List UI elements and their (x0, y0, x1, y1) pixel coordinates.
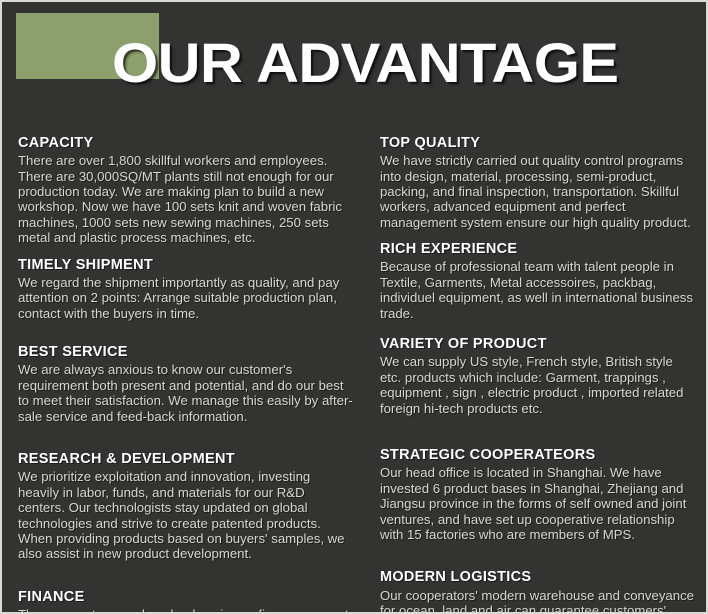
advantage-section: BEST SERVICEWe are always anxious to kno… (18, 343, 354, 424)
section-heading: BEST SERVICE (18, 343, 354, 361)
advantage-section: MODERN LOGISTICSOur cooperators' modern … (380, 568, 694, 614)
section-body: We can supply US style, French style, Br… (380, 354, 694, 416)
section-heading: STRATEGIC COOPERATEORS (380, 446, 694, 464)
advantage-section: CAPACITYThere are over 1,800 skillful wo… (18, 134, 354, 246)
section-body: We have strictly carried out quality con… (380, 153, 694, 230)
section-body: Our head office is located in Shanghai. … (380, 465, 694, 542)
advantage-poster: OUR ADVANTAGE CAPACITYThere are over 1,8… (0, 0, 708, 614)
section-heading: TIMELY SHIPMENT (18, 256, 354, 274)
section-heading: VARIETY OF PRODUCT (380, 335, 694, 353)
advantage-section: TIMELY SHIPMENTWe regard the shipment im… (18, 256, 354, 321)
advantage-section: STRATEGIC COOPERATEORSOur head office is… (380, 446, 694, 542)
right-column: TOP QUALITYWe have strictly carried out … (364, 134, 706, 614)
section-heading: CAPACITY (18, 134, 354, 152)
section-body: There are over 1,800 skillful workers an… (18, 153, 354, 246)
advantage-columns: CAPACITYThere are over 1,800 skillful wo… (2, 134, 706, 612)
section-body: We prioritize exploitation and innovatio… (18, 469, 354, 562)
section-body: Because of professional team with talent… (380, 259, 694, 321)
section-heading: FINANCE (18, 588, 354, 606)
advantage-section: TOP QUALITYWe have strictly carried out … (380, 134, 694, 230)
poster-header: OUR ADVANTAGE (2, 2, 706, 120)
section-heading: RICH EXPERIENCE (380, 240, 694, 258)
advantage-section: RICH EXPERIENCEBecause of professional t… (380, 240, 694, 321)
section-heading: TOP QUALITY (380, 134, 694, 152)
advantage-section: VARIETY OF PRODUCTWe can supply US style… (380, 335, 694, 416)
advantage-section: FINANCEThe cooperators, such as banks, g… (18, 588, 354, 614)
section-heading: RESEARCH & DEVELOPMENT (18, 450, 354, 468)
section-heading: MODERN LOGISTICS (380, 568, 694, 586)
section-body: The cooperators, such as banks, give us … (18, 607, 354, 614)
section-body: We regard the shipment importantly as qu… (18, 275, 354, 321)
advantage-section: RESEARCH & DEVELOPMENTWe prioritize expl… (18, 450, 354, 562)
section-body: We are always anxious to know our custom… (18, 362, 354, 424)
left-column: CAPACITYThere are over 1,800 skillful wo… (2, 134, 364, 614)
page-title: OUR ADVANTAGE (112, 35, 618, 91)
section-body: Our cooperators' modern warehouse and co… (380, 588, 694, 614)
